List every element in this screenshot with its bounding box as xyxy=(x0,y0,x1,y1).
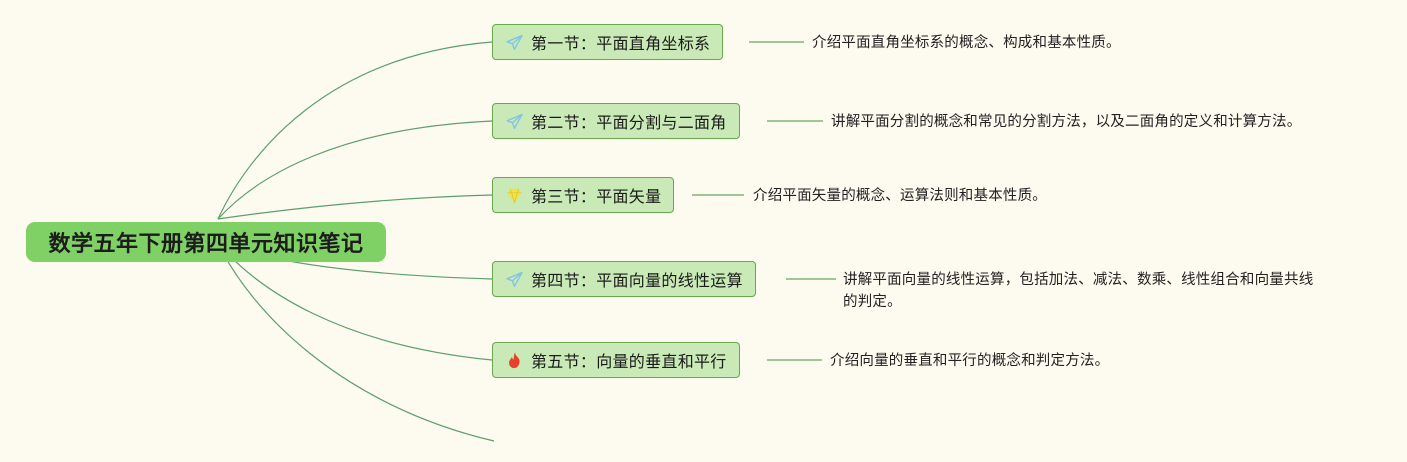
connector-section-4 xyxy=(786,278,836,280)
mindmap-canvas: 数学五年下册第四单元知识笔记 第一节：平面直角坐标系 介绍平面直角坐标系的概念、… xyxy=(0,0,1407,462)
description-section-5: 介绍向量的垂直和平行的概念和判定方法。 xyxy=(830,350,1250,372)
edge-root-to-section-6-dangling xyxy=(218,243,494,441)
branch-label-section-3: 第三节：平面矢量 xyxy=(531,183,661,207)
branch-label-section-5: 第五节：向量的垂直和平行 xyxy=(531,348,727,372)
branch-label-section-2: 第二节：平面分割与二面角 xyxy=(531,109,727,133)
connector-section-2 xyxy=(767,120,823,122)
branch-node-section-2[interactable]: 第二节：平面分割与二面角 xyxy=(492,103,740,139)
branch-node-section-3[interactable]: 第三节：平面矢量 xyxy=(492,177,674,213)
branch-node-section-5[interactable]: 第五节：向量的垂直和平行 xyxy=(492,342,740,378)
connector-section-3 xyxy=(692,194,744,196)
paper-plane-icon xyxy=(505,33,524,52)
edge-root-to-section-3 xyxy=(218,195,492,219)
paper-plane-icon xyxy=(505,270,524,289)
root-node-label: 数学五年下册第四单元知识笔记 xyxy=(48,226,363,258)
description-section-3: 介绍平面矢量的概念、运算法则和基本性质。 xyxy=(753,185,1173,207)
branch-node-section-1[interactable]: 第一节：平面直角坐标系 xyxy=(492,24,723,60)
connector-section-1 xyxy=(749,41,804,43)
description-section-2: 讲解平面分割的概念和常见的分割方法，以及二面角的定义和计算方法。 xyxy=(831,111,1331,133)
branch-node-section-4[interactable]: 第四节：平面向量的线性运算 xyxy=(492,261,756,297)
paper-plane-icon xyxy=(505,112,524,131)
branch-label-section-4: 第四节：平面向量的线性运算 xyxy=(531,267,743,291)
gem-icon xyxy=(505,186,524,205)
edge-root-to-section-2 xyxy=(218,121,492,219)
branch-label-section-1: 第一节：平面直角坐标系 xyxy=(531,30,710,54)
description-section-4: 讲解平面向量的线性运算，包括加法、减法、数乘、线性组合和向量共线的判定。 xyxy=(843,269,1324,314)
connector-section-5 xyxy=(767,359,822,361)
fire-icon xyxy=(505,351,524,370)
description-section-1: 介绍平面直角坐标系的概念、构成和基本性质。 xyxy=(812,32,1232,54)
edge-root-to-section-1 xyxy=(218,42,492,219)
root-node[interactable]: 数学五年下册第四单元知识笔记 xyxy=(26,222,386,262)
